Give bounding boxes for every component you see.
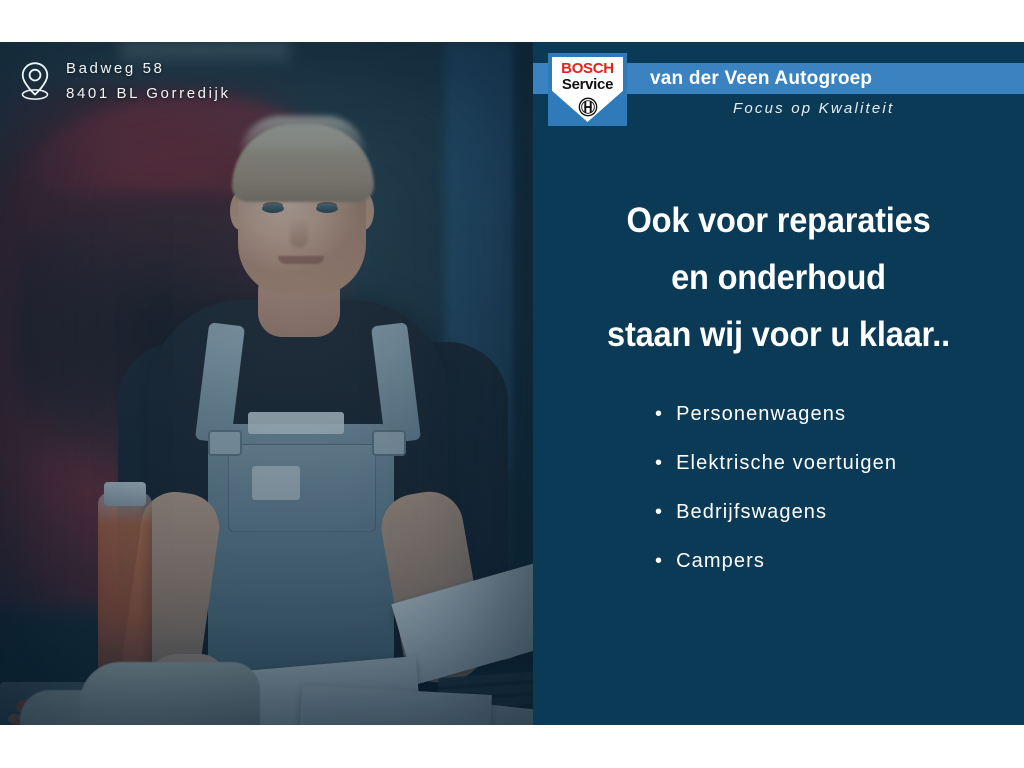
service-label: Bedrijfswagens — [676, 488, 827, 537]
address-line-1: Badweg 58 — [66, 56, 231, 81]
services-list: • Personenwagens • Elektrische voertuige… — [655, 390, 897, 586]
list-item: • Campers — [655, 537, 897, 586]
location-pin-icon — [18, 61, 52, 101]
bosch-armature-icon — [578, 97, 598, 117]
headline-line-3: staan wij voor u klaar.. — [550, 306, 1007, 363]
headline-line-2: en onderhoud — [550, 249, 1007, 306]
service-label: Personenwagens — [676, 390, 846, 439]
promo-banner: Badweg 58 8401 BL Gorredijk BOSCH Servic… — [0, 42, 1024, 725]
headline: Ook voor reparaties en onderhoud staan w… — [550, 192, 1007, 363]
photo-vignette — [0, 42, 533, 725]
bosch-service-word: Service — [552, 77, 623, 93]
bullet-icon: • — [655, 390, 663, 439]
list-item: • Elektrische voertuigen — [655, 439, 897, 488]
info-panel: BOSCH Service van der Veen Autogroep Foc… — [533, 42, 1024, 725]
bullet-icon: • — [655, 537, 663, 586]
address-line-2: 8401 BL Gorredijk — [66, 81, 231, 106]
bosch-wordmark: BOSCH — [552, 61, 623, 76]
company-name: van der Veen Autogroep — [650, 64, 872, 93]
address-overlay: Badweg 58 8401 BL Gorredijk — [18, 56, 231, 106]
list-item: • Personenwagens — [655, 390, 897, 439]
bullet-icon: • — [655, 488, 663, 537]
company-tagline: Focus op Kwaliteit — [733, 100, 894, 117]
address-text: Badweg 58 8401 BL Gorredijk — [66, 56, 231, 106]
headline-line-1: Ook voor reparaties — [550, 192, 1007, 249]
list-item: • Bedrijfswagens — [655, 488, 897, 537]
bosch-service-logo[interactable]: BOSCH Service — [548, 53, 627, 126]
mechanic-photo: Badweg 58 8401 BL Gorredijk — [0, 42, 533, 725]
service-label: Elektrische voertuigen — [676, 439, 897, 488]
service-label: Campers — [676, 537, 765, 586]
bullet-icon: • — [655, 439, 663, 488]
